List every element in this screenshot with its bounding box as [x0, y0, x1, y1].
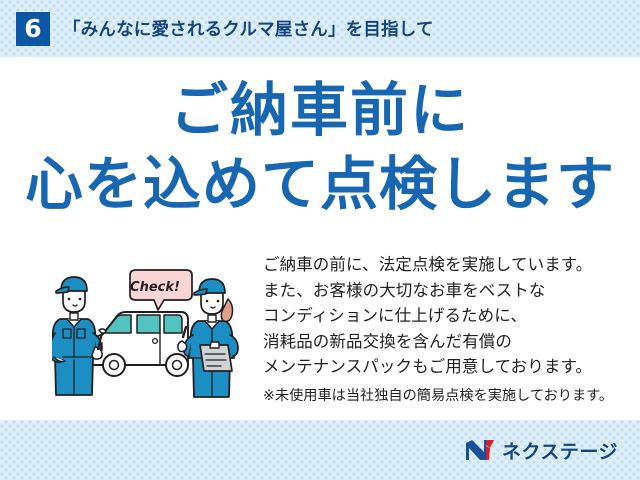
section-number-badge: 6: [16, 12, 50, 46]
brand-logo: ネクステージ: [465, 437, 618, 464]
mechanics-illustration: Check!: [52, 257, 257, 402]
body-line: 消耗品の新品交換を含んだ有償の: [263, 330, 625, 356]
male-mechanic: [52, 277, 106, 395]
brand-name: ネクステージ: [502, 437, 618, 464]
content-panel: ご納車前に 心を込めて点検します Check!: [0, 57, 640, 420]
nextage-n-icon: [465, 439, 495, 461]
body-line: また、お客様の大切なお車をベストな: [263, 279, 625, 305]
page-title: ご納車前に 心を込めて点検します: [0, 81, 640, 213]
body-line: メンテナンスパックもご用意しております。: [263, 355, 625, 381]
header-bar: 6 「みんなに愛されるクルマ屋さん」を目指して: [0, 0, 640, 57]
check-speech-bubble: Check!: [130, 270, 192, 310]
svg-text:Check!: Check!: [130, 280, 180, 295]
van-illustration: [88, 312, 188, 376]
headline-line-2: 心を込めて点検します: [0, 155, 640, 213]
body-line: ご納車の前に、法定点検を実施しています。: [263, 253, 625, 279]
footer-bar: ネクステージ: [0, 420, 640, 480]
body-line: コンディションに仕上げるために、: [263, 304, 625, 330]
body-copy: ご納車の前に、法定点検を実施しています。 また、お客様の大切なお車をベストな コ…: [263, 253, 625, 408]
body-note: ※未使用車は当社独自の簡易点検を実施しております。: [263, 384, 625, 408]
headline-line-1: ご納車前に: [0, 81, 640, 139]
header-title: 「みんなに愛されるクルマ屋さん」を目指して: [63, 16, 434, 41]
